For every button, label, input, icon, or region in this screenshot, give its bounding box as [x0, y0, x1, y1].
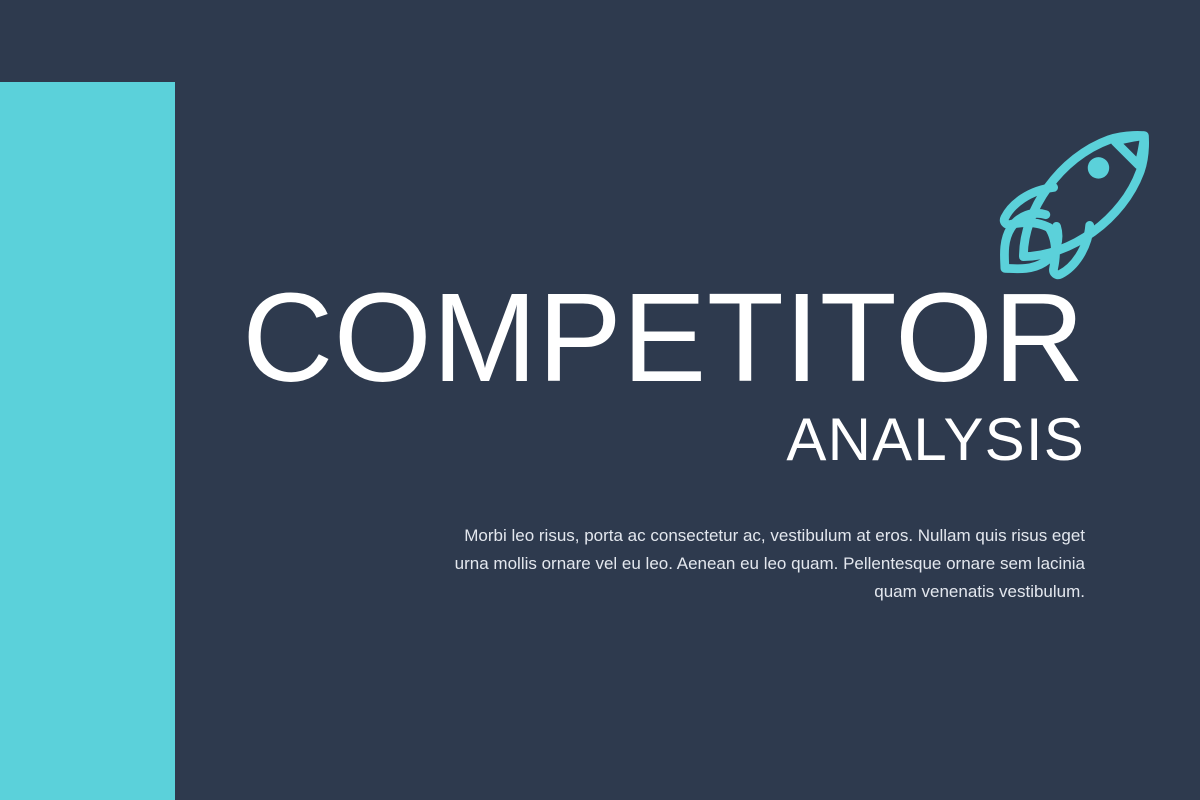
rocket-icon — [1000, 124, 1156, 280]
presentation-slide: COMPETITOR ANALYSIS Morbi leo risus, por… — [0, 0, 1200, 800]
page-subtitle: ANALYSIS — [240, 410, 1085, 470]
title-block: COMPETITOR ANALYSIS Morbi leo risus, por… — [240, 280, 1085, 606]
rocket-nose-cap — [1115, 136, 1144, 165]
body-paragraph: Morbi leo risus, porta ac consectetur ac… — [450, 522, 1085, 606]
left-accent-band — [0, 82, 175, 800]
page-title: COMPETITOR — [240, 280, 1085, 396]
rocket-porthole-icon — [1088, 157, 1109, 178]
rocket-icon-glyph — [1000, 124, 1156, 280]
